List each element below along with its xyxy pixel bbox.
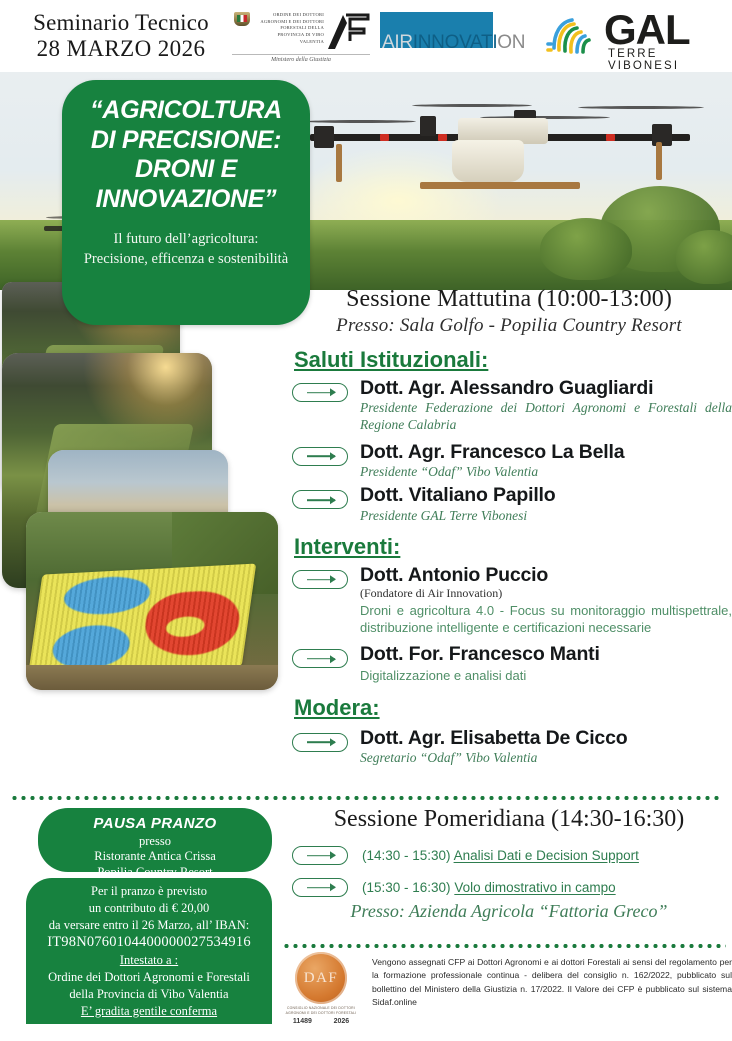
- afternoon-place: Presso: Azienda Agricola “Fattoria Greco…: [286, 901, 732, 922]
- speaker-name: Dott. Vitaliano Papillo: [360, 484, 732, 506]
- odaf-logo: ORDINE DEI DOTTORI AGRONOMI E DEI DOTTOR…: [228, 8, 373, 66]
- daf-number-left: 11489: [293, 1018, 312, 1025]
- greeting-entry: Dott. Vitaliano Papillo Presidente GAL T…: [292, 484, 732, 524]
- contact-email[interactable]: Per info: odafvv@gmail.com: [38, 1029, 260, 1041]
- event-title-card: “AGRICOLTURA DI PRECISIONE: DRONI E INNO…: [62, 80, 310, 325]
- event-subtitle-line1: Il futuro dell’agricoltura:: [76, 230, 296, 250]
- lunch-venue: presso Ristorante Antica Crissa Popilia …: [38, 834, 272, 880]
- speaker-affiliation: (Fondatore di Air Innovation): [360, 586, 732, 601]
- daf-logo: DAF CONSIGLIO NAZIONALE DEI DOTTORI AGRO…: [282, 952, 360, 1025]
- lunch-iban: IT98N0760104400000027534916: [38, 934, 260, 951]
- footer-divider: [282, 944, 726, 948]
- speaker-name: Dott. Agr. Francesco La Bella: [360, 441, 732, 463]
- italy-emblem-icon: [234, 12, 250, 26]
- daf-number-right: 2026: [334, 1018, 350, 1025]
- talks-label: Interventi:: [294, 534, 732, 560]
- arrow-pill-icon: [292, 733, 348, 752]
- cfp-footer: DAF CONSIGLIO NAZIONALE DEI DOTTORI AGRO…: [282, 952, 732, 1025]
- speaker-name: Dott. For. Francesco Manti: [360, 643, 732, 665]
- greeting-entry: Dott. Agr. Francesco La Bella Presidente…: [292, 441, 732, 481]
- talk-entry: Dott. Antonio Puccio (Fondatore di Air I…: [292, 564, 732, 637]
- speaker-name: Dott. Agr. Elisabetta De Cicco: [360, 727, 732, 749]
- seminar-title: Seminario Tecnico 28 MARZO 2026: [16, 10, 226, 62]
- event-title: “AGRICOLTURA DI PRECISIONE: DRONI E INNO…: [76, 96, 296, 214]
- morning-session: Sessione Mattutina (10:00-13:00) Presso:…: [286, 286, 732, 766]
- speaker-name: Dott. Agr. Alessandro Guagliardi: [360, 377, 732, 399]
- arrow-pill-icon: [292, 570, 348, 589]
- lunch-holder-2: della Provincia di Vibo Valentia: [38, 986, 260, 1003]
- gal-logo: GAL TERRE VIBONESI: [546, 8, 722, 64]
- daf-numbers: 11489 2026: [282, 1018, 360, 1025]
- odaf-divider: [232, 54, 370, 55]
- gal-logo-subtitle: TERRE VIBONESI: [608, 48, 722, 72]
- arrow-pill-icon: [292, 846, 348, 865]
- daf-seal-icon: DAF: [295, 952, 347, 1004]
- speaker-role: Presidente Federazione dei Dottori Agron…: [360, 400, 732, 432]
- fingerprint-leaf-icon: [546, 10, 604, 58]
- air-logo-part2: INNOVATI: [413, 32, 498, 53]
- af-monogram-icon: [326, 11, 370, 51]
- greeting-entry: Dott. Agr. Alessandro Guagliardi Preside…: [292, 377, 732, 433]
- air-logo-part1: AIR: [382, 32, 413, 53]
- section-divider: [10, 796, 722, 800]
- lunch-fee-line2: un contributo di € 20,00: [38, 900, 260, 917]
- afternoon-item-text: (14:30 - 15:30) Analisi Dati e Decision …: [362, 848, 639, 863]
- lunch-fee-line1: Per il pranzo è previsto: [38, 883, 260, 900]
- greetings-label: Saluti Istituzionali:: [294, 347, 732, 373]
- afternoon-item-title: Analisi Dati e Decision Support: [454, 848, 639, 863]
- odaf-logo-body: ORDINE DEI DOTTORI AGRONOMI E DEI DOTTOR…: [254, 12, 324, 45]
- afternoon-item-text: (15:30 - 16:30) Volo dimostrativo in cam…: [362, 880, 616, 895]
- talk-description: Droni e agricoltura 4.0 - Focus su monit…: [360, 603, 732, 637]
- event-subtitle: Il futuro dell’agricoltura: Precisione, …: [76, 230, 296, 269]
- morning-place: Presso: Sala Golfo - Popilia Country Res…: [286, 315, 732, 337]
- arrow-pill-icon: [292, 878, 348, 897]
- speaker-role: Presidente GAL Terre Vibonesi: [360, 508, 732, 524]
- air-logo-part3: ON: [497, 32, 525, 53]
- afternoon-item-time: (14:30 - 15:30): [362, 848, 451, 863]
- event-subtitle-line2: Precisione, efficenza e sostenibilità: [76, 250, 296, 270]
- daf-council-text: CONSIGLIO NAZIONALE DEI DOTTORI AGRONOMI…: [282, 1006, 360, 1016]
- speaker-role: Presidente “Odaf” Vibo Valentia: [360, 464, 732, 480]
- speaker-role: Segretario “Odaf” Vibo Valentia: [360, 750, 732, 766]
- arrow-pill-icon: [292, 649, 348, 668]
- poster-header: Seminario Tecnico 28 MARZO 2026 ORDINE D…: [0, 0, 732, 72]
- morning-heading: Sessione Mattutina (10:00-13:00): [286, 286, 732, 313]
- talk-description: Digitalizzazione e analisi dati: [360, 668, 732, 685]
- moderator-label: Modera:: [294, 695, 732, 721]
- afternoon-heading: Sessione Pomeridiana (14:30-16:30): [286, 806, 732, 833]
- lunch-venue-1: Ristorante Antica Crissa: [38, 849, 272, 864]
- afternoon-item-title: Volo dimostrativo in campo: [454, 880, 615, 895]
- lunch-holder-1: Ordine dei Dottori Agronomi e Forestali: [38, 969, 260, 986]
- photo-ndvi-field-map: [26, 512, 278, 690]
- lunch-presso: presso: [38, 834, 272, 849]
- lunch-confirm-note: E’ gradita gentile conferma: [38, 1003, 260, 1020]
- afternoon-item: (15:30 - 16:30) Volo dimostrativo in cam…: [292, 878, 732, 897]
- lunch-title: PAUSA PRANZO: [38, 815, 272, 832]
- afternoon-item-time: (15:30 - 16:30): [362, 880, 451, 895]
- cfp-text: Vengono assegnati CFP ai Dottori Agronom…: [372, 952, 732, 1025]
- lunch-intestato-label: Intestato a :: [38, 952, 260, 969]
- speaker-name: Dott. Antonio Puccio: [360, 564, 732, 586]
- gal-logo-wordmark: GAL: [604, 6, 690, 54]
- talk-entry: Dott. For. Francesco Manti Digitalizzazi…: [292, 643, 732, 684]
- hero-bush: [540, 218, 632, 280]
- lunch-break-card: PAUSA PRANZO presso Ristorante Antica Cr…: [38, 808, 272, 872]
- arrow-pill-icon: [292, 447, 348, 466]
- air-innovation-logo: AIRINNOVATION: [380, 12, 530, 60]
- hero-bush: [676, 230, 732, 284]
- drone-main: [300, 90, 700, 200]
- odaf-ministry-label: Ministero della Giustizia: [232, 57, 370, 63]
- afternoon-session: Sessione Pomeridiana (14:30-16:30) (14:3…: [286, 806, 732, 922]
- seminar-title-line2: 28 MARZO 2026: [16, 36, 226, 62]
- arrow-pill-icon: [292, 490, 348, 509]
- poster-root: Seminario Tecnico 28 MARZO 2026 ORDINE D…: [0, 0, 732, 1024]
- moderator-entry: Dott. Agr. Elisabetta De Cicco Segretari…: [292, 727, 732, 767]
- air-logo-wordmark: AIRINNOVATION: [382, 32, 532, 56]
- lunch-fee-line3: da versare entro il 26 Marzo, all’ IBAN:: [38, 917, 260, 934]
- lunch-payment-card: Per il pranzo è previsto un contributo d…: [26, 878, 272, 1024]
- arrow-pill-icon: [292, 383, 348, 402]
- afternoon-item: (14:30 - 15:30) Analisi Dati e Decision …: [292, 846, 732, 865]
- seminar-title-line1: Seminario Tecnico: [16, 10, 226, 36]
